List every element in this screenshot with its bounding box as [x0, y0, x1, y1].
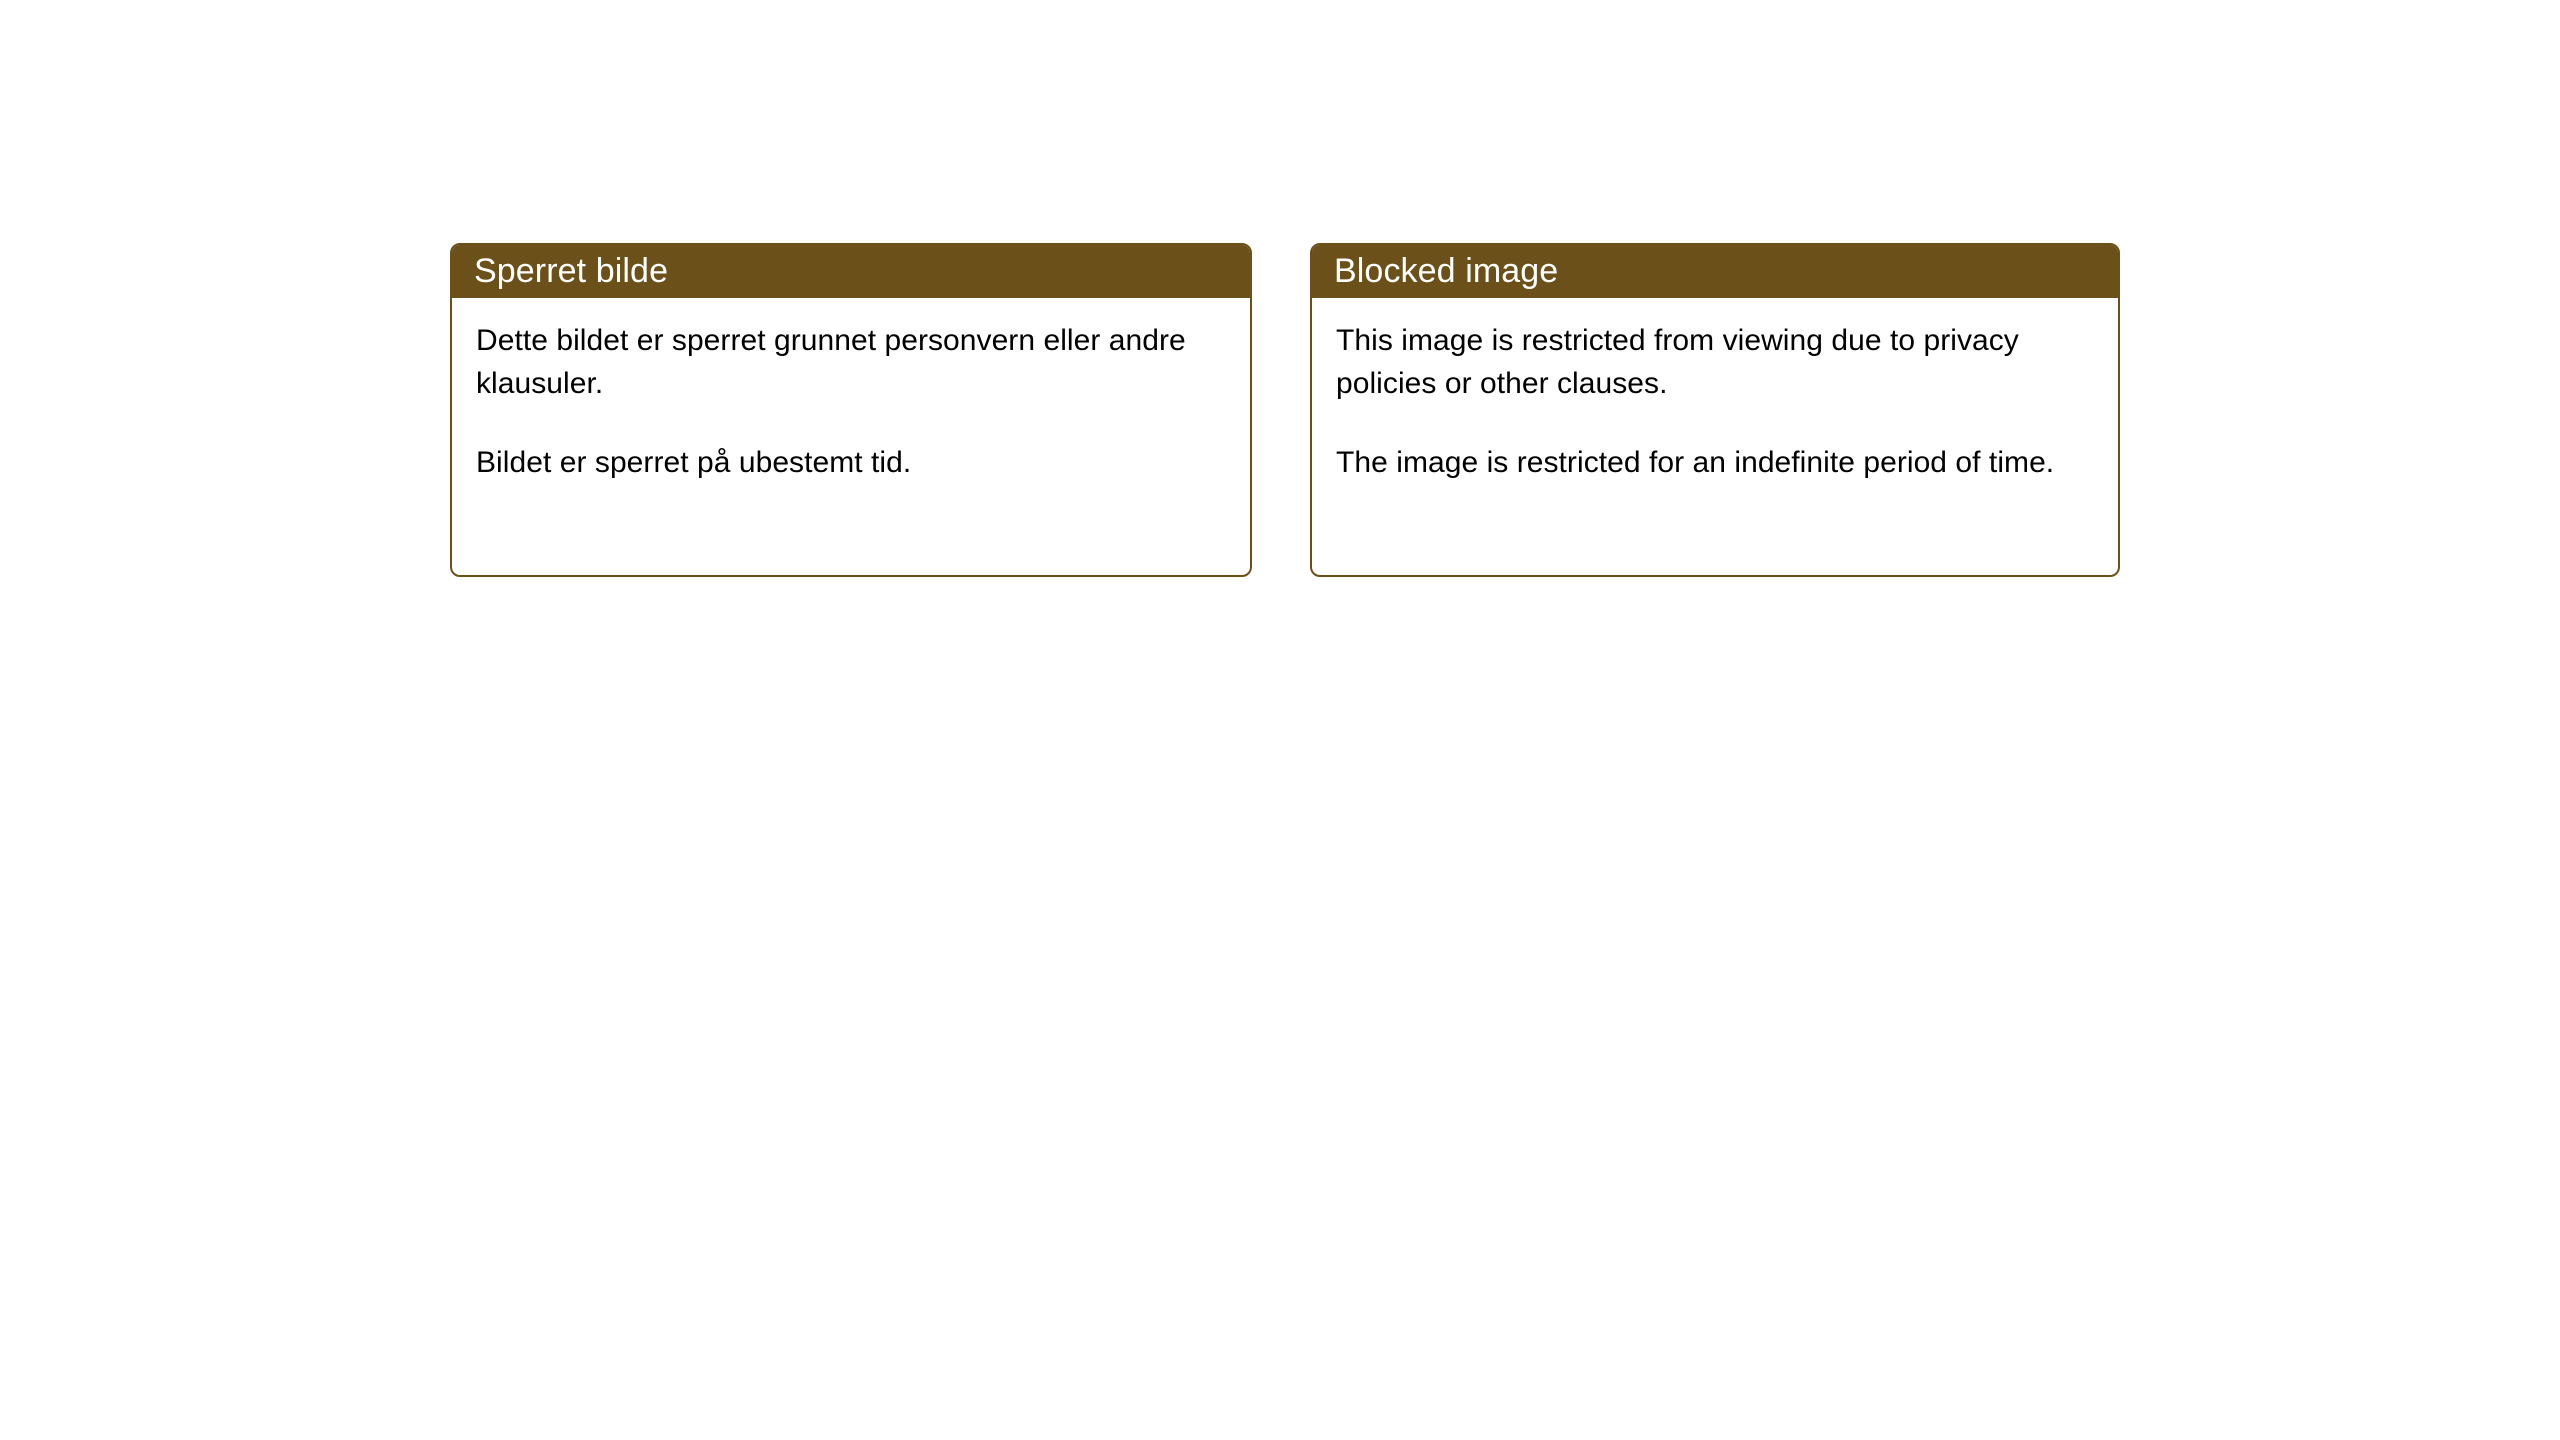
blocked-image-notice-norwegian: Sperret bilde Dette bildet er sperret gr… — [450, 243, 1252, 577]
paragraph-spacer — [1336, 405, 2104, 441]
notice-title-norwegian: Sperret bilde — [474, 254, 668, 288]
notice-title-english: Blocked image — [1334, 254, 1558, 288]
notice-paragraph-primary-english: This image is restricted from viewing du… — [1336, 319, 2104, 405]
notice-body-english: This image is restricted from viewing du… — [1312, 298, 2118, 484]
notice-paragraph-secondary-english: The image is restricted for an indefinit… — [1336, 441, 2104, 484]
notice-header-english: Blocked image — [1310, 243, 2120, 298]
notice-paragraph-secondary-norwegian: Bildet er sperret på ubestemt tid. — [476, 441, 1228, 484]
paragraph-spacer — [476, 405, 1228, 441]
notice-paragraph-primary-norwegian: Dette bildet er sperret grunnet personve… — [476, 319, 1228, 405]
blocked-image-notice-english: Blocked image This image is restricted f… — [1310, 243, 2120, 577]
notice-header-norwegian: Sperret bilde — [450, 243, 1252, 298]
notice-body-norwegian: Dette bildet er sperret grunnet personve… — [452, 298, 1250, 484]
